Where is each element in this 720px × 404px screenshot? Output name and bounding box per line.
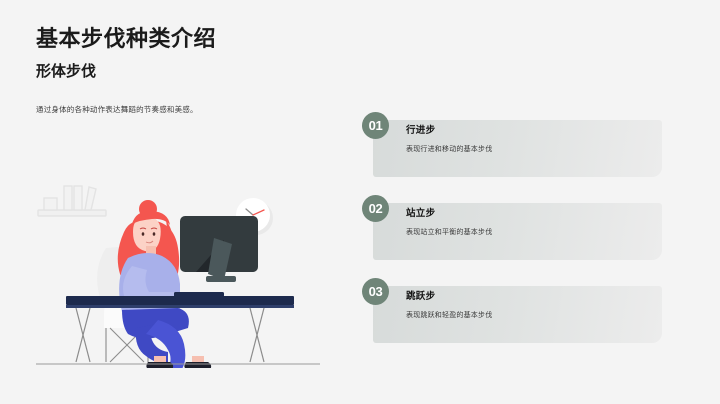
- step-title: 跳跃步: [406, 291, 652, 302]
- list-item[interactable]: 03 跳跃步 表现跳跃和轻盈的基本步伐: [362, 278, 662, 343]
- list-item[interactable]: 02 站立步 表现站立和平衡的基本步伐: [362, 195, 662, 260]
- step-title: 站立步: [406, 208, 652, 219]
- step-text-block: 跳跃步 表现跳跃和轻盈的基本步伐: [406, 291, 652, 320]
- step-description: 表现站立和平衡的基本步伐: [406, 228, 652, 237]
- woman-working-at-desk-illustration: [28, 168, 328, 368]
- step-description: 表现跳跃和轻盈的基本步伐: [406, 311, 652, 320]
- list-item[interactable]: 01 行进步 表现行进和移动的基本步伐: [362, 112, 662, 177]
- desktop-monitor: [180, 216, 258, 282]
- steps-list: 01 行进步 表现行进和移动的基本步伐 02 站立步 表现站立和平衡的基本步伐 …: [362, 112, 662, 343]
- step-text-block: 行进步 表现行进和移动的基本步伐: [406, 125, 652, 154]
- step-number-badge: 01: [362, 112, 389, 139]
- step-title: 行进步: [406, 125, 652, 136]
- step-description: 表现行进和移动的基本步伐: [406, 145, 652, 154]
- page-subtitle: 形体步伐: [36, 63, 366, 81]
- slide-canvas: 基本步伐种类介绍 形体步伐 通过身体的各种动作表达舞蹈的节奏感和美感。: [0, 0, 720, 404]
- page-title: 基本步伐种类介绍: [36, 26, 366, 52]
- step-number-badge: 02: [362, 195, 389, 222]
- step-number-badge: 03: [362, 278, 389, 305]
- lead-paragraph: 通过身体的各种动作表达舞蹈的节奏感和美感。: [36, 104, 336, 115]
- slide-header: 基本步伐种类介绍 形体步伐: [36, 26, 366, 81]
- wall-shelf-with-books: [38, 186, 106, 216]
- step-text-block: 站立步 表现站立和平衡的基本步伐: [406, 208, 652, 237]
